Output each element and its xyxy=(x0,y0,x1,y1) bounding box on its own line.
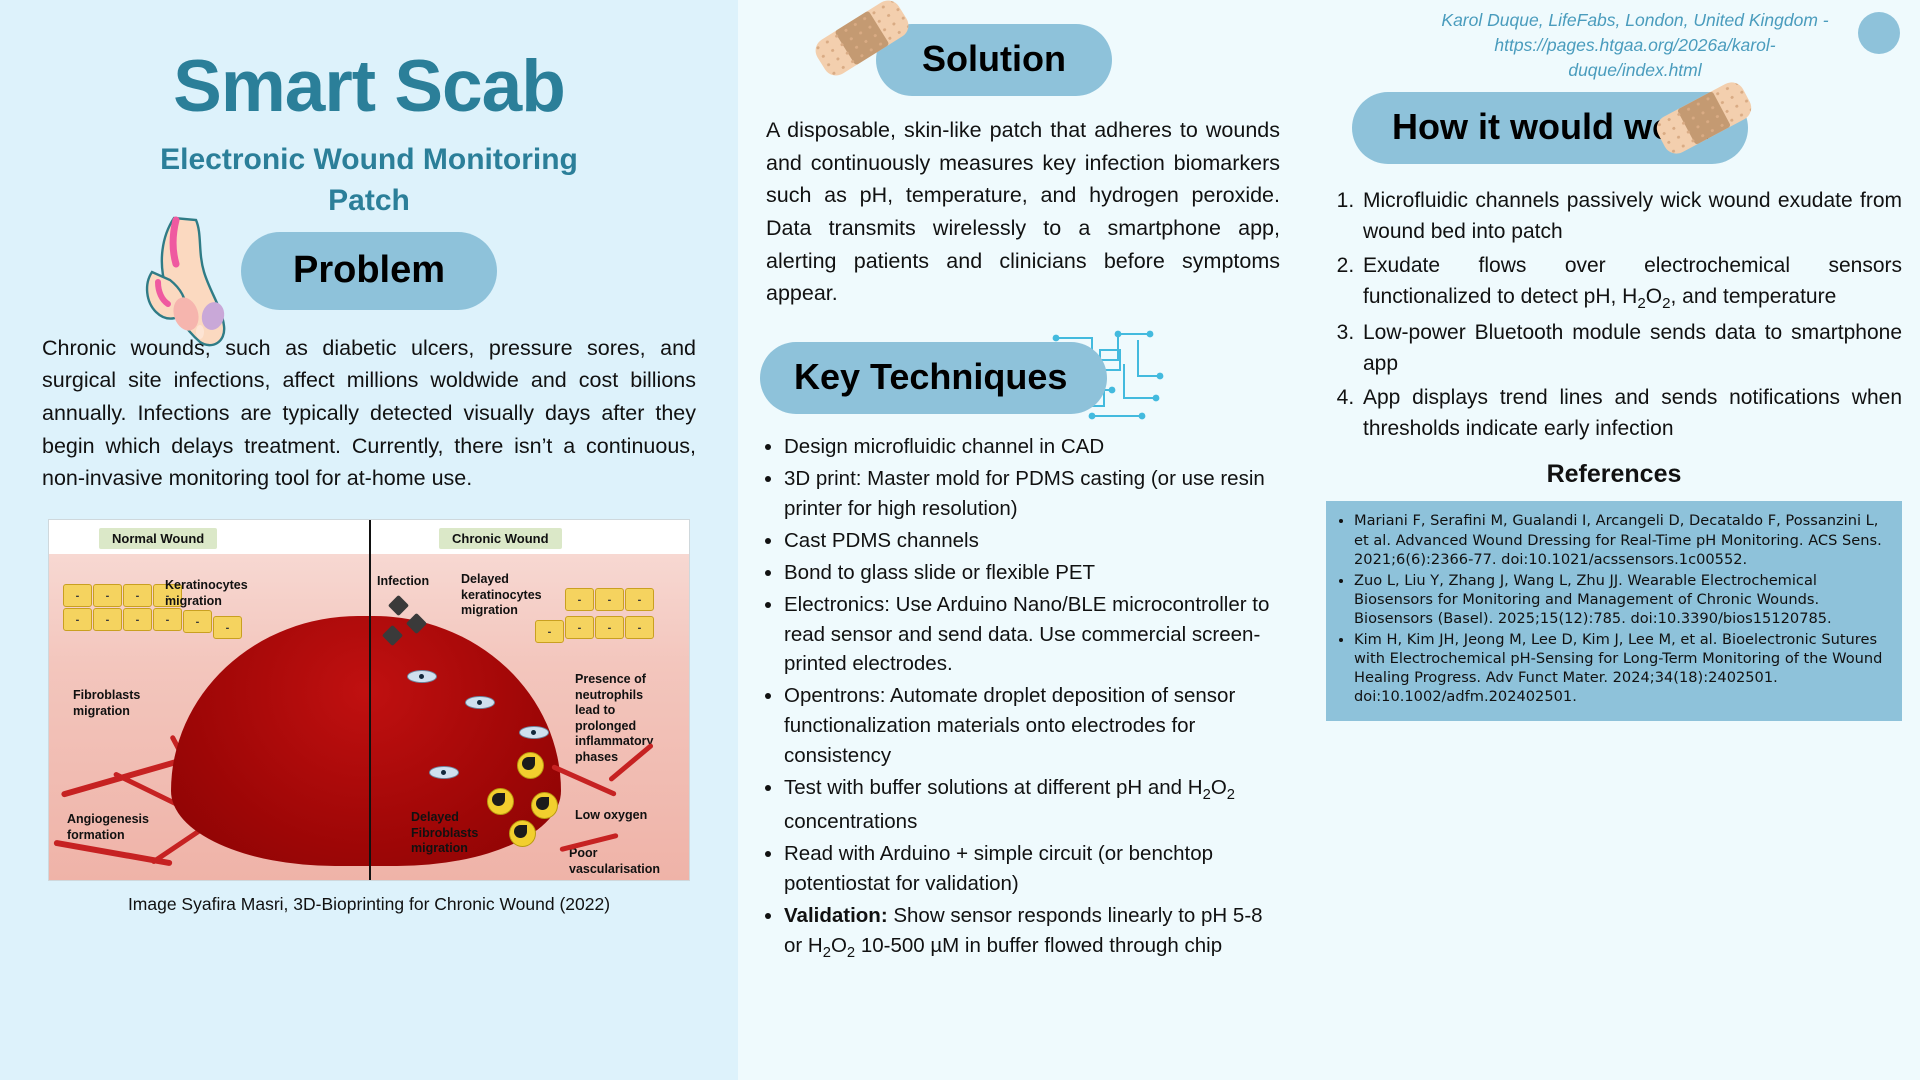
references-box: Mariani F, Serafini M, Gualandi I, Arcan… xyxy=(1326,501,1902,720)
right-column: How it would work Microfluidic channels … xyxy=(1308,0,1920,1080)
solution-body-text: A disposable, skin-like patch that adher… xyxy=(760,114,1286,310)
list-item: Low-power Bluetooth module sends data to… xyxy=(1360,318,1902,380)
list-item: Validation: Show sensor responds linearl… xyxy=(784,901,1286,965)
arm-illustration-icon xyxy=(140,210,250,350)
figure-annotation-infection: Infection xyxy=(377,574,429,590)
middle-column: Solution A disposable, skin-like patch t… xyxy=(738,0,1308,1080)
figure-annotation-delayed-keratinocytes: Delayedkeratinocytesmigration xyxy=(461,572,542,619)
figure-divider xyxy=(369,520,371,880)
list-item: Electronics: Use Arduino Nano/BLE microc… xyxy=(784,590,1286,680)
solution-badge: Solution xyxy=(876,24,1112,96)
problem-badge-row: Problem xyxy=(30,232,708,310)
list-item: Mariani F, Serafini M, Gualandi I, Arcan… xyxy=(1354,511,1888,568)
key-techniques-list: Design microfluidic channel in CAD 3D pr… xyxy=(760,432,1286,964)
page-subtitle: Electronic Wound Monitoring Patch xyxy=(30,139,708,222)
list-item: Exudate flows over electrochemical senso… xyxy=(1360,251,1902,315)
figure-label-chronic: Chronic Wound xyxy=(439,528,562,549)
references-title: References xyxy=(1326,460,1902,489)
how-it-works-badge-row: How it would work xyxy=(1326,92,1902,164)
credit-line-1: Karol Duque, LifeFabs, London, United Ki… xyxy=(1430,8,1840,33)
wound-figure-wrapper: Normal Wound - - - - - - - - - - Keratin… xyxy=(30,519,708,915)
references-list: Mariani F, Serafini M, Gualandi I, Arcan… xyxy=(1332,511,1888,706)
poster-root: Karol Duque, LifeFabs, London, United Ki… xyxy=(0,0,1920,1080)
figure-annotation-delayed-fibroblasts: DelayedFibroblastsmigration xyxy=(411,810,478,857)
author-credit: Karol Duque, LifeFabs, London, United Ki… xyxy=(1430,8,1840,83)
list-item: Design microfluidic channel in CAD xyxy=(784,432,1286,462)
page-title: Smart Scab xyxy=(30,50,708,123)
figure-annotation-poor-vascularisation: Poorvascularisation xyxy=(569,846,660,877)
list-item: Opentrons: Automate droplet deposition o… xyxy=(784,681,1286,771)
list-item: Read with Arduino + simple circuit (or b… xyxy=(784,839,1286,899)
list-item: Kim H, Kim JH, Jeong M, Lee D, Kim J, Le… xyxy=(1354,630,1888,706)
left-column: Smart Scab Electronic Wound Monitoring P… xyxy=(0,0,738,1080)
list-item: Cast PDMS channels xyxy=(784,526,1286,556)
figure-annotation-fibroblasts: Fibroblastsmigration xyxy=(73,688,140,719)
list-item: Microfluidic channels passively wick wou… xyxy=(1360,186,1902,248)
how-it-works-list: Microfluidic channels passively wick wou… xyxy=(1326,186,1902,444)
list-item: App displays trend lines and sends notif… xyxy=(1360,383,1902,445)
key-techniques-badge: Key Techniques xyxy=(760,342,1107,414)
figure-label-normal: Normal Wound xyxy=(99,528,217,549)
list-item: Bond to glass slide or flexible PET xyxy=(784,558,1286,588)
wound-comparison-figure: Normal Wound - - - - - - - - - - Keratin… xyxy=(48,519,690,881)
key-techniques-badge-row: Key Techniques xyxy=(760,342,1286,414)
problem-badge: Problem xyxy=(241,232,497,310)
decorative-circle xyxy=(1858,12,1900,54)
list-item: Zuo L, Liu Y, Zhang J, Wang L, Zhu JJ. W… xyxy=(1354,571,1888,628)
list-item: Test with buffer solutions at different … xyxy=(784,773,1286,837)
figure-annotation-low-oxygen: Low oxygen xyxy=(575,808,647,824)
list-item: 3D print: Master mold for PDMS casting (… xyxy=(784,464,1286,524)
credit-line-2: https://pages.htgaa.org/2026a/karol-duqu… xyxy=(1430,33,1840,83)
figure-annotation-angiogenesis: Angiogenesisformation xyxy=(67,812,149,843)
solution-badge-row: Solution xyxy=(760,24,1286,96)
figure-annotation-keratinocytes: Keratinocytesmigration xyxy=(165,578,248,609)
figure-caption: Image Syafira Masri, 3D-Bioprinting for … xyxy=(48,894,690,915)
problem-body-text: Chronic wounds, such as diabetic ulcers,… xyxy=(30,332,708,495)
figure-chronic-wound-half: Chronic Wound Infection Delayedkeratinoc… xyxy=(369,520,689,880)
